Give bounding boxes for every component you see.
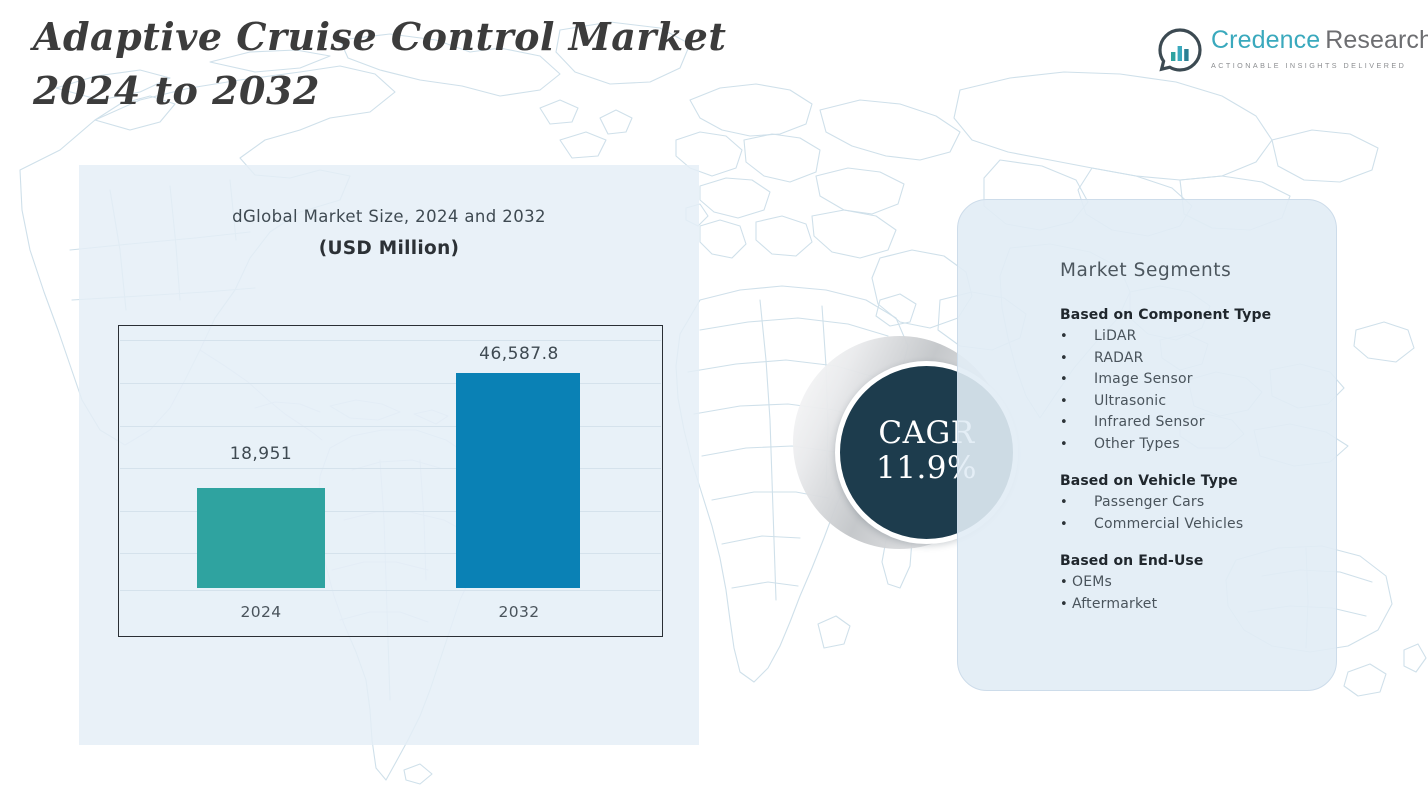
infographic-page: Adaptive Cruise Control Market 2024 to 2… <box>0 0 1428 804</box>
category-label-2024: 2024 <box>181 603 341 621</box>
bar-2032 <box>456 373 580 588</box>
segment-item: •Aftermarket <box>1060 594 1350 616</box>
bullet-icon: • <box>1060 572 1072 594</box>
company-logo: CredenceResearch Actionable Insights Del… <box>1158 28 1428 72</box>
segment-group: Based on End-Use•OEMs•Aftermarket <box>1060 553 1350 615</box>
segment-item: •Ultrasonic <box>1060 391 1350 413</box>
segment-item: •Other Types <box>1060 434 1350 456</box>
bullet-icon: • <box>1060 348 1094 370</box>
segment-item: •Commercial Vehicles <box>1060 514 1350 536</box>
segment-item-label: Commercial Vehicles <box>1094 514 1243 536</box>
bullet-icon: • <box>1060 492 1094 514</box>
bullet-icon: • <box>1060 594 1072 616</box>
bullet-icon: • <box>1060 514 1094 536</box>
bar-chart-circle-icon <box>1158 28 1202 72</box>
logo-brand-first: Credence <box>1211 26 1320 54</box>
segment-item-label: Infrared Sensor <box>1094 412 1205 434</box>
logo-tagline: Actionable Insights Delivered <box>1211 61 1406 70</box>
segment-item: •RADAR <box>1060 348 1350 370</box>
segment-item-list: •Passenger Cars•Commercial Vehicles <box>1060 492 1350 535</box>
segment-group: Based on Component Type•LiDAR•RADAR•Imag… <box>1060 307 1350 455</box>
segment-item: •OEMs <box>1060 572 1350 594</box>
segment-item: •Passenger Cars <box>1060 492 1350 514</box>
logo-brand-second: Research <box>1325 26 1428 54</box>
bar-value-2032: 46,587.8 <box>439 344 599 364</box>
segment-item-label: Aftermarket <box>1072 594 1157 616</box>
page-title: Adaptive Cruise Control Market 2024 to 2… <box>33 10 813 118</box>
segment-item-label: Image Sensor <box>1094 369 1193 391</box>
segment-item-label: Ultrasonic <box>1094 391 1166 413</box>
bar-chart: 18,951 46,587.8 2024 2032 <box>118 325 663 637</box>
segment-group-title: Based on Component Type <box>1060 307 1350 323</box>
bar-2024 <box>197 488 325 588</box>
segment-item-list: •OEMs•Aftermarket <box>1060 572 1350 615</box>
bullet-icon: • <box>1060 434 1094 456</box>
segment-item-label: OEMs <box>1072 572 1112 594</box>
segment-group-title: Based on End-Use <box>1060 553 1350 569</box>
chart-gridline <box>120 590 661 591</box>
logo-wordmark: CredenceResearch Actionable Insights Del… <box>1211 28 1428 72</box>
segment-item: •Image Sensor <box>1060 369 1350 391</box>
segment-item: •LiDAR <box>1060 326 1350 348</box>
bullet-icon: • <box>1060 369 1094 391</box>
segment-item-label: Passenger Cars <box>1094 492 1204 514</box>
segment-group-title: Based on Vehicle Type <box>1060 473 1350 489</box>
bullet-icon: • <box>1060 391 1094 413</box>
segment-item: •Infrared Sensor <box>1060 412 1350 434</box>
segment-item-list: •LiDAR•RADAR•Image Sensor•Ultrasonic•Inf… <box>1060 326 1350 455</box>
bar-value-2024: 18,951 <box>181 444 341 464</box>
chart-title: dGlobal Market Size, 2024 and 2032 <box>79 207 699 226</box>
category-label-2032: 2032 <box>439 603 599 621</box>
segment-group-list: Based on Component Type•LiDAR•RADAR•Imag… <box>1060 307 1350 615</box>
chart-subtitle: (USD Million) <box>79 238 699 259</box>
chart-gridline <box>120 340 661 341</box>
segment-item-label: RADAR <box>1094 348 1144 370</box>
segment-item-label: LiDAR <box>1094 326 1137 348</box>
bullet-icon: • <box>1060 412 1094 434</box>
segment-group: Based on Vehicle Type•Passenger Cars•Com… <box>1060 473 1350 535</box>
segment-item-label: Other Types <box>1094 434 1180 456</box>
bullet-icon: • <box>1060 326 1094 348</box>
market-segments: Market Segments Based on Component Type•… <box>1060 260 1350 615</box>
segments-heading: Market Segments <box>1060 260 1350 281</box>
logo-brand: CredenceResearch <box>1211 26 1428 54</box>
